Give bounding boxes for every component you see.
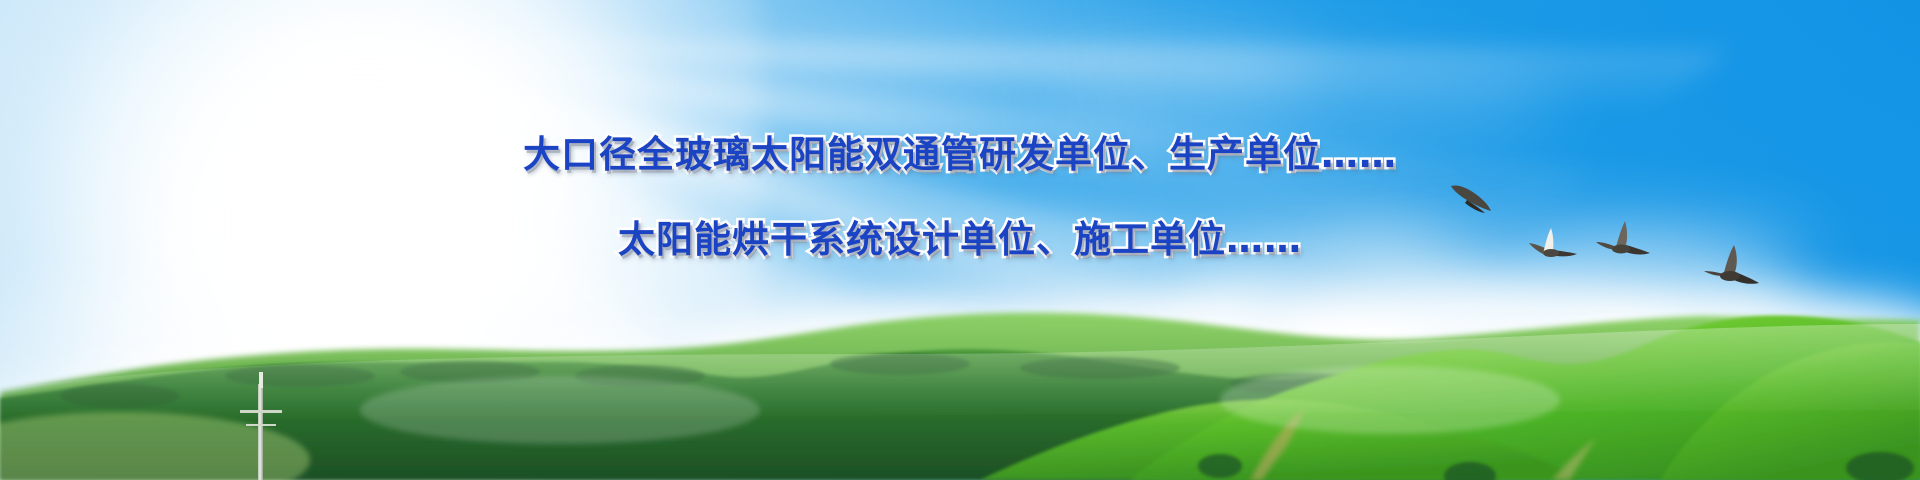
- headline-line-2: 太阳能烘干系统设计单位、施工单位……: [0, 209, 1920, 263]
- landscape: [0, 280, 1920, 480]
- headline-line-1: 大口径全玻璃太阳能双通管研发单位、生产单位……: [0, 124, 1920, 178]
- utility-pole: [258, 384, 263, 480]
- banner-image: 大口径全玻璃太阳能双通管研发单位、生产单位…… 太阳能烘干系统设计单位、施工单位…: [0, 0, 1920, 480]
- utility-pole-tip: [259, 372, 263, 388]
